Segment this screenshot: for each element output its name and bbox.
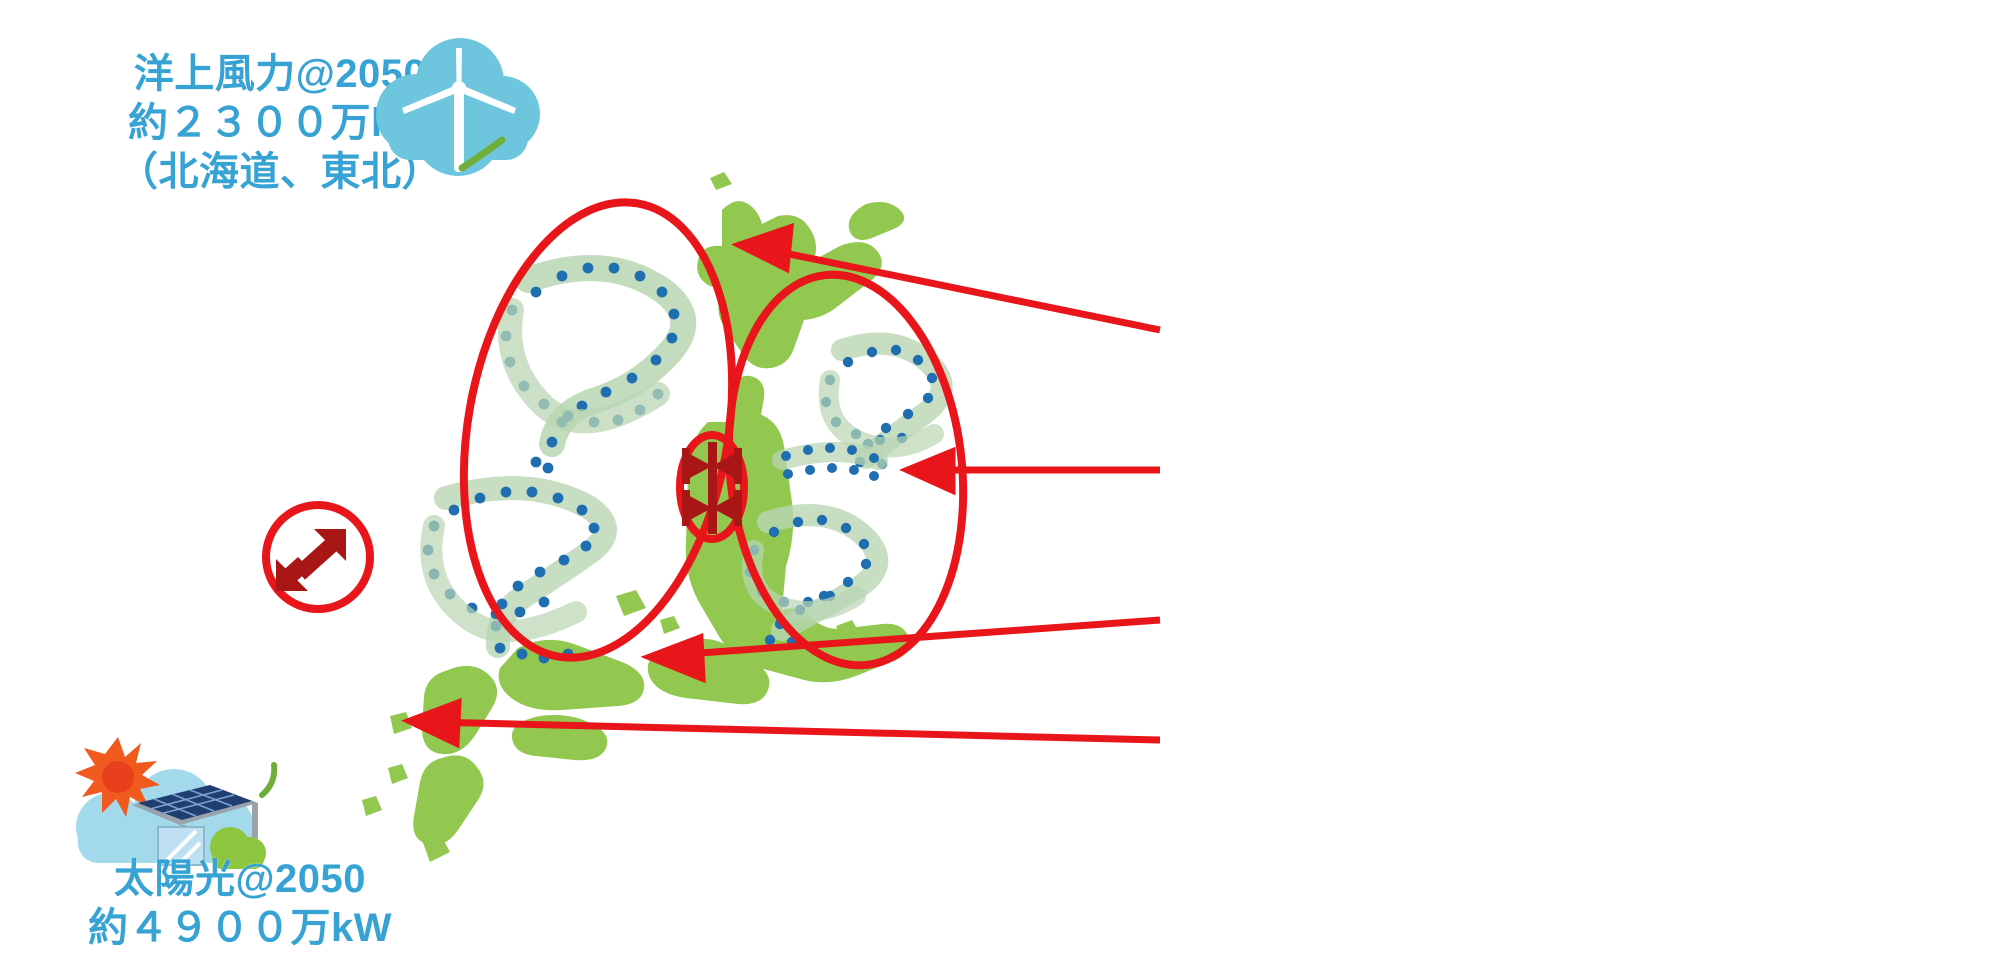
kyushu-chugoku-interconnection-icon [250,495,390,625]
slide-canvas: 洋上風力@2050 約２３００万kW （北海道、東北） [0,0,2000,972]
investment-breakdown-panel: 系統増強の投資額 約6〜7兆円 北海道地内増強 約1.1 兆円 日本海ルート 北… [1160,0,2000,972]
japan-map [330,150,1130,890]
